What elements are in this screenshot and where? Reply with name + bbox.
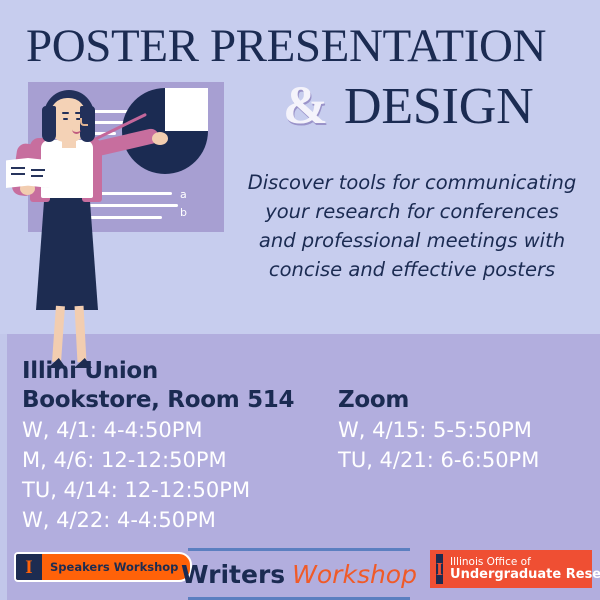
book-text-line bbox=[31, 169, 45, 171]
session-item: TU, 4/14: 12-12:50PM bbox=[22, 475, 294, 505]
logo-undergraduate-research-text: Illinois Office of Undergraduate Researc… bbox=[450, 556, 600, 583]
event-block-illini-union: Illini Union Bookstore, Room 514 W, 4/1:… bbox=[22, 357, 294, 535]
event-heading-line-1: Zoom bbox=[338, 386, 539, 415]
ampersand-glyph: & bbox=[283, 78, 328, 132]
logo-speakers-workshop-label: Speakers Workshop bbox=[42, 554, 190, 580]
session-item: W, 4/15: 5-5:50PM bbox=[338, 415, 539, 445]
poster-description: Discover tools for communicating your re… bbox=[228, 168, 596, 284]
event-heading-line-2: Bookstore, Room 514 bbox=[22, 386, 294, 415]
figure-eyebrow-right bbox=[75, 112, 82, 114]
pie-chart-white-slice bbox=[165, 88, 208, 131]
block-i-glyph: I bbox=[25, 558, 32, 577]
logo-writers-workshop[interactable]: Writers Workshop bbox=[188, 548, 410, 600]
poster-title-line-1: POSTER PRESENTATION bbox=[26, 21, 546, 71]
figure-leg-right bbox=[75, 306, 87, 362]
book-text-line bbox=[11, 173, 25, 175]
poster-title-line-2: DESIGN bbox=[344, 81, 533, 133]
figure-hair-side-left bbox=[42, 106, 56, 142]
illinois-block-i-icon: I bbox=[436, 554, 443, 584]
figure-eyebrow-left bbox=[62, 112, 69, 114]
logo-line-2: Undergraduate Research bbox=[450, 568, 600, 583]
board-glyph-a: a bbox=[180, 188, 187, 201]
board-glyph-b: b bbox=[180, 206, 187, 219]
description-line: and professional meetings with bbox=[228, 226, 596, 255]
description-line: Discover tools for communicating bbox=[228, 168, 596, 197]
figure-skirt bbox=[36, 192, 98, 310]
poster-canvas: POSTER PRESENTATION & DESIGN Discover to… bbox=[0, 0, 600, 600]
session-item: W, 4/1: 4-4:50PM bbox=[22, 415, 294, 445]
event-block-zoom: Zoom W, 4/15: 5-5:50PM TU, 4/21: 6-6:50P… bbox=[338, 386, 539, 475]
poster-title-line-2-group: & DESIGN bbox=[283, 78, 533, 133]
presenter-illustration: a b bbox=[0, 70, 232, 340]
logo-speakers-workshop[interactable]: I Speakers Workshop bbox=[14, 552, 192, 582]
logo-line-1: Illinois Office of bbox=[450, 556, 600, 568]
footer-logo-bar: I Speakers Workshop Writers Workshop I I… bbox=[0, 548, 600, 600]
figure-eye-left bbox=[63, 118, 68, 120]
event-heading-line-1: Illini Union bbox=[22, 357, 294, 386]
session-item: M, 4/6: 12-12:50PM bbox=[22, 445, 294, 475]
workshop-word: Workshop bbox=[292, 560, 417, 589]
illinois-block-i-icon: I bbox=[16, 554, 42, 580]
logo-undergraduate-research[interactable]: I Illinois Office of Undergraduate Resea… bbox=[430, 550, 592, 588]
book-text-line bbox=[31, 175, 43, 177]
description-line: your research for conferences bbox=[228, 197, 596, 226]
writers-word: Writers bbox=[181, 560, 285, 589]
block-i-glyph: I bbox=[436, 560, 443, 578]
session-item: W, 4/22: 4-4:50PM bbox=[22, 505, 294, 535]
session-item: TU, 4/21: 6-6:50PM bbox=[338, 445, 539, 475]
book-text-line bbox=[11, 167, 25, 169]
figure-nose bbox=[80, 118, 88, 126]
description-line: concise and effective posters bbox=[228, 255, 596, 284]
figure-hand-right bbox=[152, 132, 168, 145]
